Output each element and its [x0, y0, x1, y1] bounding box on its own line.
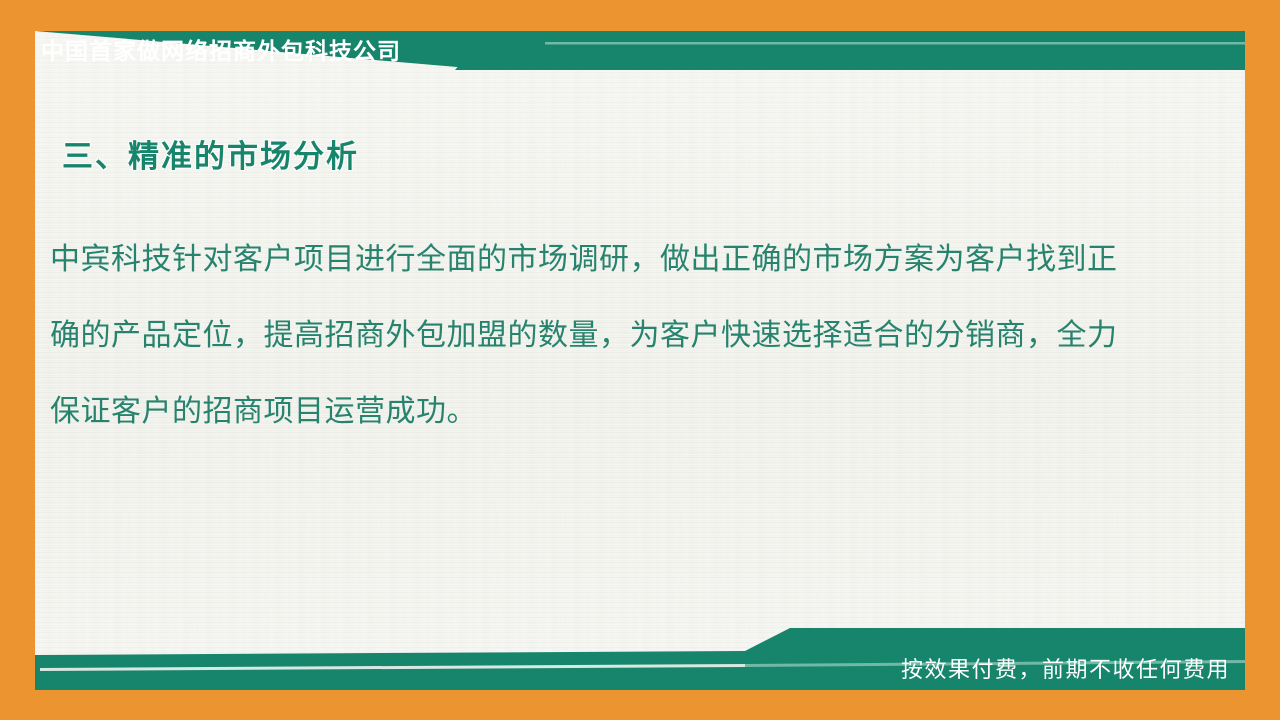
body-line-3: 保证客户的招商项目运营成功。 — [50, 374, 1190, 450]
company-tagline: 中国首家做网络招商外包科技公司 — [41, 36, 401, 66]
body-paragraph: 中宾科技针对客户项目进行全面的市场调研，做出正确的市场方案为客户找到正 确的产品… — [50, 222, 1190, 450]
body-line-1: 中宾科技针对客户项目进行全面的市场调研，做出正确的市场方案为客户找到正 — [50, 222, 1190, 298]
body-line-2: 确的产品定位，提高招商外包加盟的数量，为客户快速选择适合的分销商，全力 — [50, 298, 1190, 374]
section-heading: 三、精准的市场分析 — [62, 136, 359, 178]
presentation-slide: 中国首家做网络招商外包科技公司 三、精准的市场分析 中宾科技针对客户项目进行全面… — [0, 0, 1280, 720]
footer-slogan: 按效果付费，前期不收任何费用 — [901, 655, 1230, 685]
